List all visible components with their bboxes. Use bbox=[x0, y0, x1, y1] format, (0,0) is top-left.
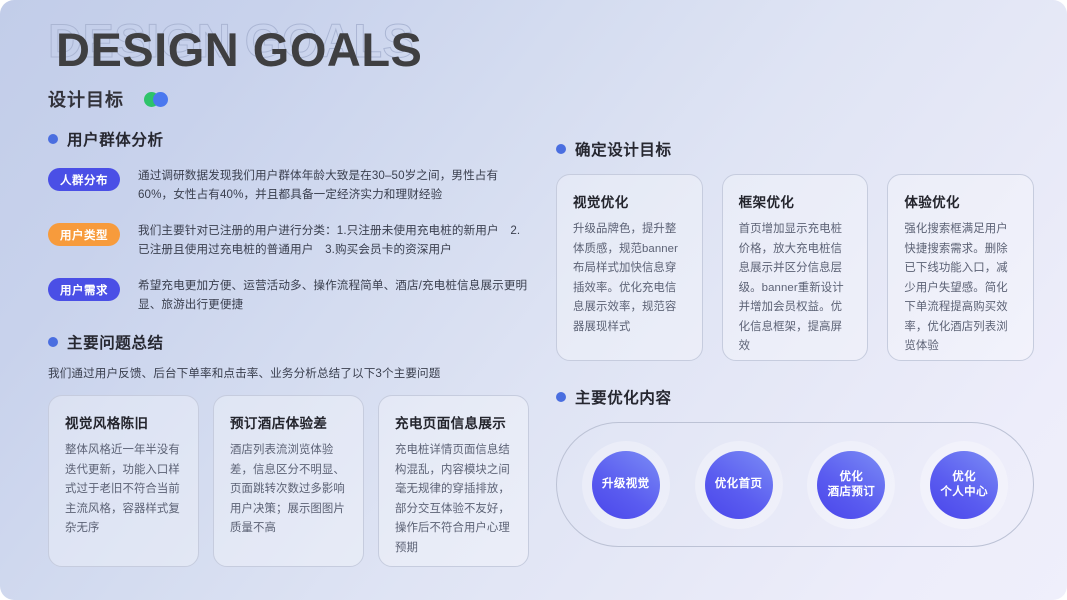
left-column: 用户群体分析 人群分布 通过调研数据发现我们用户群体年龄大致是在30–50岁之间… bbox=[48, 128, 530, 567]
tag-crowd-distribution: 人群分布 bbox=[48, 168, 120, 191]
tag-description: 通过调研数据发现我们用户群体年龄大致是在30–50岁之间，男性占有60%，女性占… bbox=[138, 166, 530, 204]
section-title: 主要优化内容 bbox=[575, 386, 672, 408]
circle-label: 优化首页 bbox=[705, 451, 773, 519]
goal-card-visual: 视觉优化 升级品牌色，提升整体质感，规范banner布局样式加快信息穿插效率。优… bbox=[556, 174, 703, 361]
bullet-dot-icon bbox=[556, 144, 566, 154]
goal-card-framework: 框架优化 首页增加显示充电桩价格，放大充电桩信息展示并区分信息层级。banner… bbox=[722, 174, 869, 361]
card-body: 强化搜索框满足用户快捷搜索需求。删除已下线功能入口，减少用户失望感。简化下单流程… bbox=[904, 220, 1017, 357]
tag-description: 希望充电更加方便、运营活动多、操作流程简单、酒店/充电桩信息展示更明显、旅游出行… bbox=[138, 276, 530, 314]
card-title: 体验优化 bbox=[904, 191, 1017, 211]
subtitle-row: 设计目标 bbox=[48, 87, 568, 111]
section-optimization-content: 主要优化内容 升级视觉 优化首页 优化 酒店预订 优化 个人中心 bbox=[556, 386, 1034, 547]
section-title: 主要问题总结 bbox=[67, 331, 164, 353]
circle-label: 升级视觉 bbox=[592, 451, 660, 519]
bullet-dot-icon bbox=[48, 337, 58, 347]
section-title: 用户群体分析 bbox=[67, 128, 164, 150]
card-body: 充电桩详情页面信息结构混乱，内容模块之间毫无规律的穿插排放，部分交互体验不友好，… bbox=[395, 441, 512, 558]
optimization-item-optimize-hotel-booking: 优化 酒店预订 bbox=[807, 441, 895, 529]
optimization-item-optimize-home: 优化首页 bbox=[695, 441, 783, 529]
bullet-dot-icon bbox=[556, 392, 566, 402]
card-title: 视觉风格陈旧 bbox=[65, 412, 182, 432]
tag-user-type: 用户类型 bbox=[48, 223, 120, 246]
card-body: 酒店列表流浏览体验差，信息区分不明显、页面跳转次数过多影响用户决策；展示图图片质… bbox=[230, 441, 347, 539]
section-title: 确定设计目标 bbox=[575, 138, 672, 160]
problem-card-list: 视觉风格陈旧 整体风格近一年半没有迭代更新，功能入口样式过于老旧不符合当前主流风… bbox=[48, 395, 530, 567]
section-heading-design-goals: 确定设计目标 bbox=[556, 138, 1034, 160]
card-body: 升级品牌色，提升整体质感，规范banner布局样式加快信息穿插效率。优化充电信息… bbox=[573, 220, 686, 337]
card-body: 首页增加显示充电桩价格，放大充电桩信息展示并区分信息层级。banner重新设计并… bbox=[739, 220, 852, 357]
section-heading-optimization: 主要优化内容 bbox=[556, 386, 1034, 408]
page-title-solid: DESIGN GOALS bbox=[56, 22, 422, 78]
optimization-item-upgrade-visual: 升级视觉 bbox=[582, 441, 670, 529]
optimization-circle-group: 升级视觉 优化首页 优化 酒店预订 优化 个人中心 bbox=[556, 422, 1034, 547]
card-title: 框架优化 bbox=[739, 191, 852, 211]
goal-card-experience: 体验优化 强化搜索框满足用户快捷搜索需求。删除已下线功能入口，减少用户失望感。简… bbox=[887, 174, 1034, 361]
page-subtitle: 设计目标 bbox=[48, 86, 124, 112]
tag-user-needs: 用户需求 bbox=[48, 278, 120, 301]
slide-canvas: DESIGN GOALS DESIGN GOALS 设计目标 用户群体分析 人群… bbox=[0, 0, 1067, 600]
list-item: 用户需求 希望充电更加方便、运营活动多、操作流程简单、酒店/充电桩信息展示更明显… bbox=[48, 276, 530, 314]
list-item: 人群分布 通过调研数据发现我们用户群体年龄大致是在30–50岁之间，男性占有60… bbox=[48, 166, 530, 204]
card-title: 视觉优化 bbox=[573, 191, 686, 211]
section-user-analysis: 用户群体分析 人群分布 通过调研数据发现我们用户群体年龄大致是在30–50岁之间… bbox=[48, 128, 530, 314]
optimization-item-optimize-profile: 优化 个人中心 bbox=[920, 441, 1008, 529]
section-heading-user-analysis: 用户群体分析 bbox=[48, 128, 530, 150]
slide-header: DESIGN GOALS DESIGN GOALS 设计目标 bbox=[48, 22, 568, 111]
right-column: 确定设计目标 视觉优化 升级品牌色，提升整体质感，规范banner布局样式加快信… bbox=[556, 138, 1034, 547]
section-caption: 我们通过用户反馈、后台下单率和点击率、业务分析总结了以下3个主要问题 bbox=[48, 365, 530, 381]
section-problem-summary: 主要问题总结 我们通过用户反馈、后台下单率和点击率、业务分析总结了以下3个主要问… bbox=[48, 331, 530, 567]
circle-label: 优化 个人中心 bbox=[930, 451, 998, 519]
list-item: 用户类型 我们主要针对已注册的用户进行分类：1.只注册未使用充电桩的新用户 2.… bbox=[48, 221, 530, 259]
section-heading-problem-summary: 主要问题总结 bbox=[48, 331, 530, 353]
tag-description: 我们主要针对已注册的用户进行分类：1.只注册未使用充电桩的新用户 2.已注册且使… bbox=[138, 221, 530, 259]
problem-card-hotel-booking: 预订酒店体验差 酒店列表流浏览体验差，信息区分不明显、页面跳转次数过多影响用户决… bbox=[213, 395, 364, 567]
bullet-dot-icon bbox=[48, 134, 58, 144]
section-design-goals: 确定设计目标 视觉优化 升级品牌色，提升整体质感，规范banner布局样式加快信… bbox=[556, 138, 1034, 361]
user-analysis-rows: 人群分布 通过调研数据发现我们用户群体年龄大致是在30–50岁之间，男性占有60… bbox=[48, 166, 530, 314]
goal-card-list: 视觉优化 升级品牌色，提升整体质感，规范banner布局样式加快信息穿插效率。优… bbox=[556, 174, 1034, 361]
problem-card-visual-style: 视觉风格陈旧 整体风格近一年半没有迭代更新，功能入口样式过于老旧不符合当前主流风… bbox=[48, 395, 199, 567]
page-title: DESIGN GOALS DESIGN GOALS bbox=[48, 22, 568, 78]
card-title: 充电页面信息展示 bbox=[395, 412, 512, 432]
card-body: 整体风格近一年半没有迭代更新，功能入口样式过于老旧不符合当前主流风格，容器样式复… bbox=[65, 441, 182, 539]
blue-dot-icon bbox=[153, 92, 168, 107]
decorative-dots bbox=[144, 92, 178, 107]
card-title: 预订酒店体验差 bbox=[230, 412, 347, 432]
circle-label: 优化 酒店预订 bbox=[817, 451, 885, 519]
problem-card-charging-page: 充电页面信息展示 充电桩详情页面信息结构混乱，内容模块之间毫无规律的穿插排放，部… bbox=[378, 395, 529, 567]
